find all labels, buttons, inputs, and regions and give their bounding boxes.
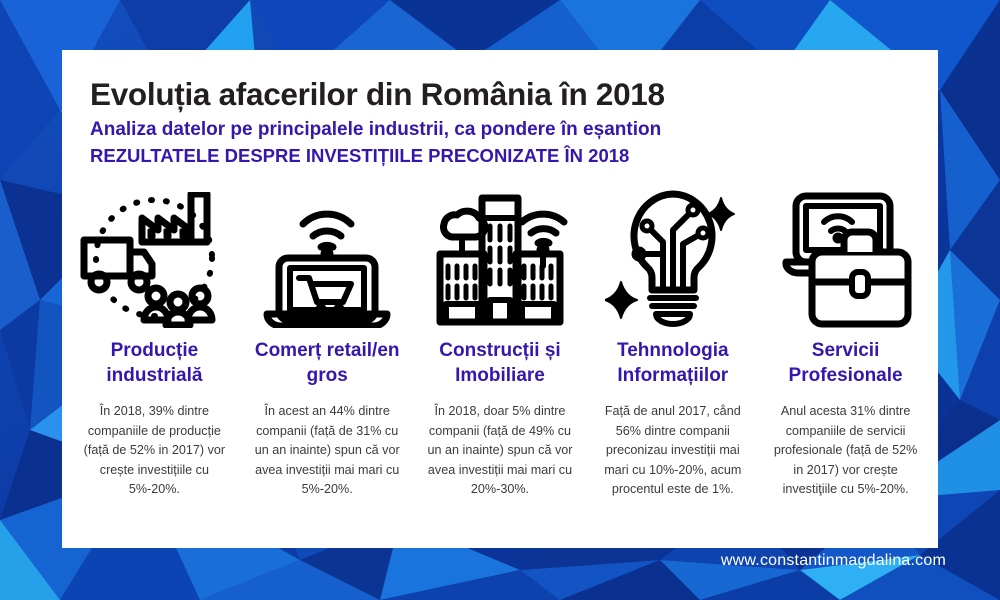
page-title: Evoluția afacerilor din România în 2018 xyxy=(90,76,938,112)
footer-website-url[interactable]: www.constantinmagdalina.com xyxy=(721,552,946,570)
infographic-canvas: Evoluția afacerilor din România în 2018 … xyxy=(0,0,1000,600)
column-body-text: În 2018, 39% dintre companiile de produc… xyxy=(78,402,230,500)
laptop-shopping-cart-wifi-icon xyxy=(253,190,401,330)
column-body-text: Anul acesta 31% dintre companiile de ser… xyxy=(770,402,922,500)
column-body-text: În 2018, doar 5% dintre companii (față d… xyxy=(424,402,576,500)
column-title: Servicii Profesionale xyxy=(762,338,930,388)
industry-column-productie-industriala: Producție industrială În 2018, 39% dintr… xyxy=(68,190,241,500)
page-subtitle-secondary: REZULTATELE DESPRE INVESTIȚIILE PRECONIZ… xyxy=(90,145,938,167)
lightbulb-circuit-icon xyxy=(599,190,747,330)
column-title: Producție industrială xyxy=(70,338,238,388)
laptop-briefcase-wifi-icon xyxy=(772,190,920,330)
column-title: Construcții și Imobiliare xyxy=(416,338,584,388)
buildings-tree-antenna-icon xyxy=(426,190,574,330)
industry-column-constructii-imobiliare: Construcții și Imobiliare În 2018, doar … xyxy=(414,190,587,500)
content-card: Evoluția afacerilor din România în 2018 … xyxy=(62,50,938,548)
page-subtitle-primary: Analiza datelor pe principalele industri… xyxy=(90,119,938,142)
column-body-text: În acest an 44% dintre companii (față de… xyxy=(251,402,403,500)
column-title: Tehnnologia Informațiilor xyxy=(589,338,757,388)
industry-column-comert-retail: Comerț retail/en gros În acest an 44% di… xyxy=(241,190,414,500)
column-body-text: Față de anul 2017, cånd 56% dintre compa… xyxy=(597,402,749,500)
industry-columns: Producție industrială În 2018, 39% dintr… xyxy=(68,190,932,500)
column-title: Comerț retail/en gros xyxy=(243,338,411,388)
factory-truck-people-icon xyxy=(80,190,228,330)
industry-column-servicii-profesionale: Servicii Profesionale Anul acesta 31% di… xyxy=(759,190,932,500)
industry-column-tehnologia-informatiilor: Tehnnologia Informațiilor Față de anul 2… xyxy=(586,190,759,500)
header-block: Evoluția afacerilor din România în 2018 … xyxy=(62,50,938,167)
